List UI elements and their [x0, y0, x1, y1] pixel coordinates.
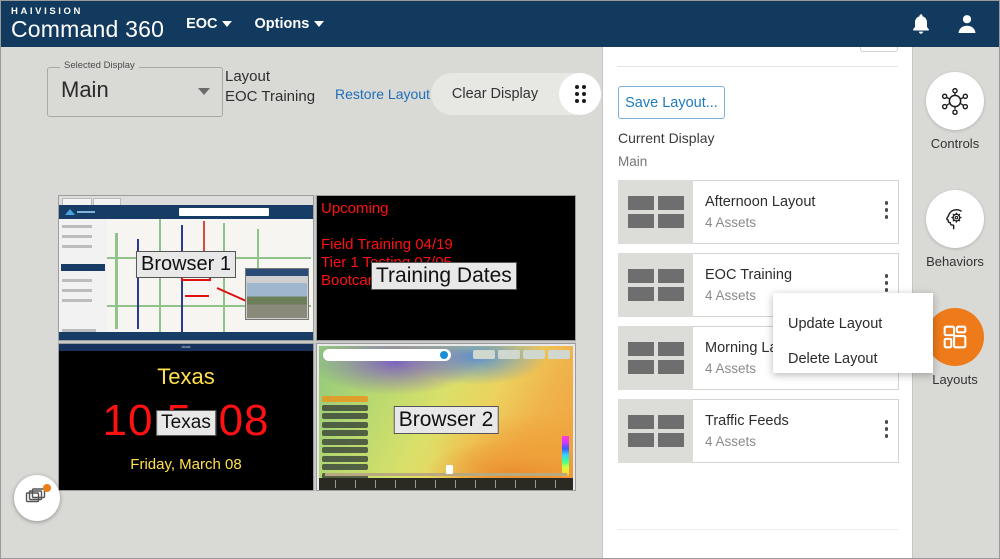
user-icon[interactable]: [955, 12, 979, 36]
cell-overlay-label: Browser 1: [136, 251, 236, 278]
layout-grid-thumb-icon: [628, 415, 684, 447]
cell-overlay-label: Texas: [156, 410, 216, 436]
nav-options-label: Options: [254, 16, 309, 32]
layout-list-item[interactable]: Traffic Feeds 4 Assets: [618, 399, 899, 463]
rail-icon-wrap: [926, 72, 984, 130]
brand-supertitle: HAIVISION: [11, 7, 164, 17]
layout-thumbnail: [618, 399, 693, 463]
layout-context-menu: Update Layout Delete Layout: [773, 293, 933, 373]
layout-overflow-menu-button[interactable]: [885, 274, 889, 292]
current-display-value: Main: [618, 154, 647, 169]
layout-overflow-menu-button[interactable]: [885, 420, 889, 438]
cell-overlay-label: Training Dates: [371, 262, 517, 290]
weather-timeline[interactable]: [319, 478, 573, 490]
current-display-label: Current Display: [618, 130, 714, 146]
weather-tool-button: [473, 350, 495, 359]
selected-display-dropdown[interactable]: Selected Display Main: [47, 67, 223, 117]
layout-asset-count: 4 Assets: [705, 434, 756, 449]
context-menu-item-update[interactable]: Update Layout: [788, 316, 882, 332]
layout-thumbnail: [618, 326, 693, 390]
weather-search-bar: [323, 349, 451, 361]
clock-city: Texas: [59, 364, 313, 390]
weather-tool-button: [548, 350, 570, 359]
layout-name: Traffic Feeds: [705, 413, 789, 429]
map-inset-camera: [245, 268, 309, 320]
timeline-track[interactable]: [325, 473, 567, 476]
selected-display-legend: Selected Display: [60, 60, 139, 71]
layout-item-body: Afternoon Layout 4 Assets: [693, 180, 899, 244]
sources-fab-button[interactable]: [14, 475, 60, 521]
layout-info: Layout EOC Training: [225, 67, 315, 107]
app-header: HAIVISION Command 360 EOC Options: [1, 1, 1000, 47]
layout-asset-count: 4 Assets: [705, 215, 756, 230]
browser-status-bar: [59, 332, 313, 340]
site-logo-icon: [63, 208, 97, 217]
layout-asset-count: 4 Assets: [705, 288, 756, 303]
video-wall-canvas[interactable]: Browser 1 Upcoming Field Training 04/19 …: [58, 195, 576, 491]
layouts-panel: Layouts Save Layout... Current Display M…: [602, 2, 913, 559]
panel-footer-divider: [617, 529, 898, 530]
browser-url-field: [179, 208, 269, 216]
rail-icon-wrap: [926, 190, 984, 248]
weather-color-legend: [562, 436, 569, 478]
rail-item-controls[interactable]: Controls: [911, 72, 999, 151]
controls-node-icon: [940, 86, 970, 116]
display-actions-group: Clear Display: [431, 73, 601, 115]
wall-cell-browser-1[interactable]: Browser 1: [58, 195, 314, 341]
wall-cell-browser-2[interactable]: Browser 2: [316, 343, 576, 491]
weather-layer-list: [322, 396, 368, 478]
brand-title: Command 360: [11, 18, 164, 41]
board-heading: Upcoming: [321, 200, 389, 218]
layout-thumbnail: [618, 180, 693, 244]
clock-chrome-title: clock: [181, 344, 190, 349]
wall-cell-texas-clock[interactable]: clock Texas 10:5 :08 Friday, March 08 Te…: [58, 343, 314, 491]
clear-display-button[interactable]: Clear Display: [431, 86, 559, 102]
weather-browser: Browser 2: [317, 344, 575, 490]
brain-gear-icon: [940, 204, 970, 234]
chevron-down-icon: [222, 21, 232, 27]
layout-name: EOC Training: [225, 87, 315, 107]
cell-overlay-label: Browser 2: [394, 406, 499, 434]
bell-icon[interactable]: [909, 12, 933, 36]
layout-list-item[interactable]: Afternoon Layout 4 Assets: [618, 180, 899, 244]
clock-chrome: clock: [59, 344, 313, 351]
nav-eoc[interactable]: EOC: [186, 16, 232, 32]
rail-label-controls: Controls: [931, 136, 979, 151]
browser-url-bar: [59, 205, 313, 219]
layout-grid-thumb-icon: [628, 196, 684, 228]
layout-item-body: Traffic Feeds 4 Assets: [693, 399, 899, 463]
layout-grid-thumb-icon: [628, 269, 684, 301]
layout-overflow-menu-button[interactable]: [885, 201, 889, 219]
brand-logo: HAIVISION Command 360: [11, 7, 164, 42]
board-line-1: Field Training 04/19: [321, 236, 453, 254]
app-window: HAIVISION Command 360 EOC Options Select…: [0, 0, 1000, 559]
timeline-knob[interactable]: [446, 465, 453, 474]
layout-thumbnail: [618, 253, 693, 317]
nav-options[interactable]: Options: [254, 16, 324, 32]
nav-eoc-label: EOC: [186, 16, 217, 32]
selected-display-value: Main: [61, 77, 109, 103]
chevron-down-icon: [314, 21, 324, 27]
clock-date: Friday, March 08: [59, 456, 313, 473]
grid-dots-icon: [575, 85, 586, 103]
header-actions: [909, 12, 1000, 36]
layout-asset-count: 4 Assets: [705, 361, 756, 376]
layout-name: EOC Training: [705, 267, 792, 283]
panel-divider: [617, 66, 898, 67]
chevron-down-icon: [198, 88, 210, 95]
context-menu-item-delete[interactable]: Delete Layout: [788, 351, 877, 367]
more-options-button[interactable]: [559, 73, 601, 115]
layout-grid-icon: [940, 322, 970, 352]
browser-sidebar: [59, 219, 108, 332]
rail-icon-wrap-active: [926, 308, 984, 366]
save-layout-button[interactable]: Save Layout...: [618, 86, 725, 119]
restore-layout-button[interactable]: Restore Layout: [335, 86, 430, 102]
layout-name: Afternoon Layout: [705, 194, 815, 210]
rail-item-behaviors[interactable]: Behaviors: [911, 190, 999, 269]
layout-grid-thumb-icon: [628, 342, 684, 374]
notification-badge-dot: [43, 484, 51, 492]
layout-label: Layout: [225, 67, 315, 87]
weather-tool-button: [498, 350, 520, 359]
weather-tool-button: [523, 350, 545, 359]
weather-search-icon: [440, 351, 448, 359]
rail-label-behaviors: Behaviors: [926, 254, 984, 269]
rail-label-layouts: Layouts: [932, 372, 978, 387]
wall-cell-training-dates[interactable]: Upcoming Field Training 04/19 Tier 1 Tes…: [316, 195, 576, 341]
